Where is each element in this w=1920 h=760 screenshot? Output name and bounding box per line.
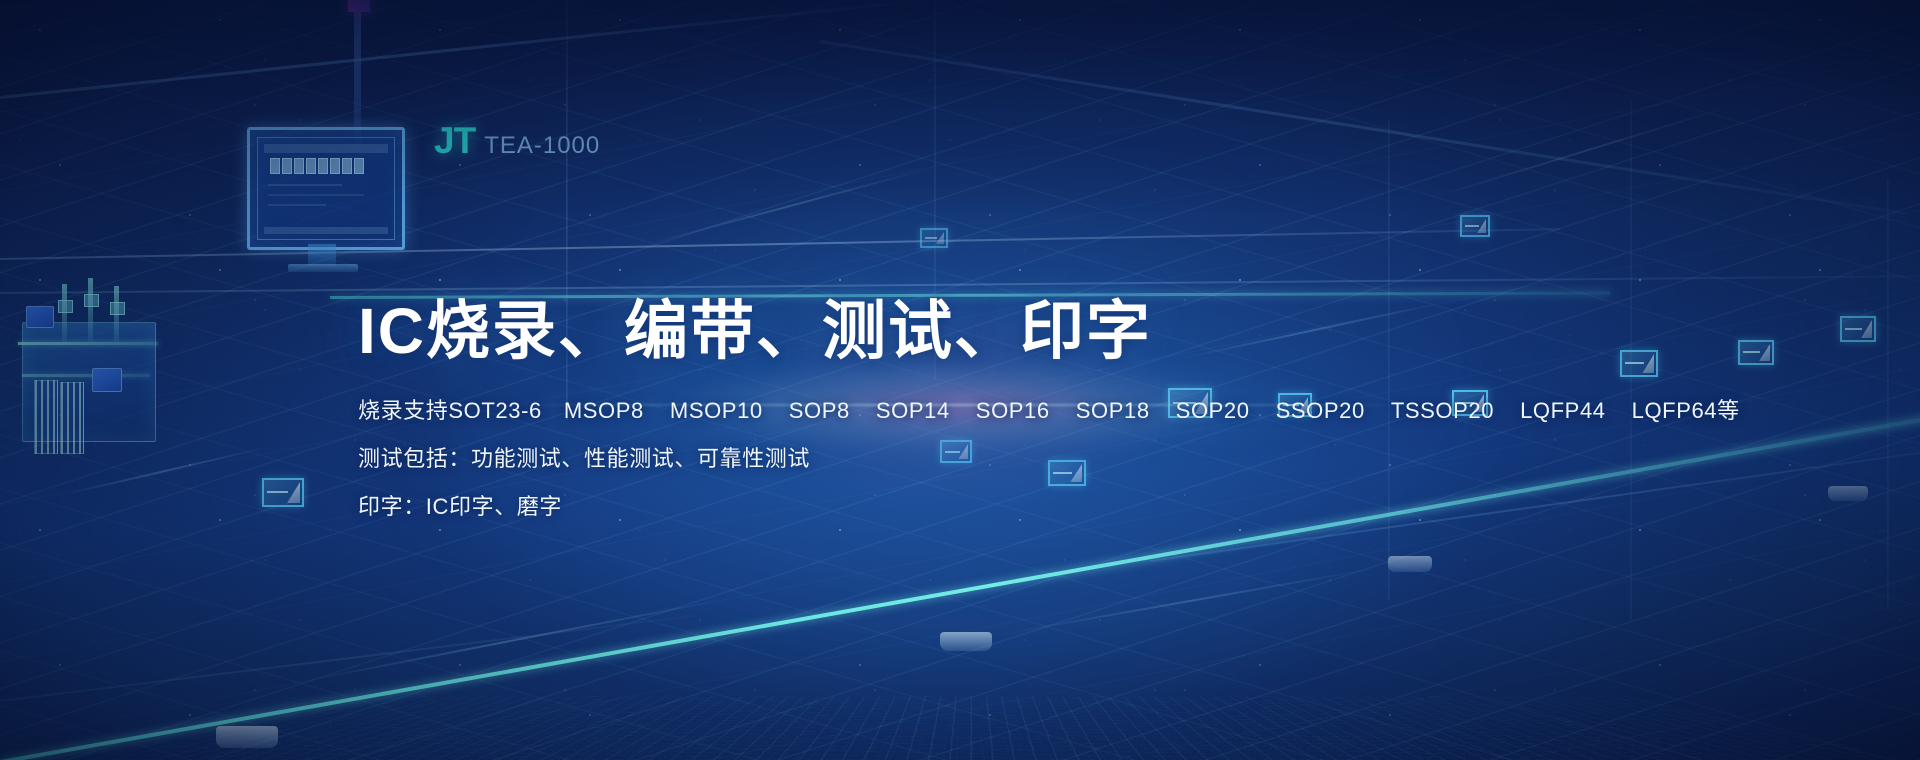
monitor-stand <box>308 244 336 266</box>
burn-support-line: 烧录支持SOT23-6 MSOP8 MSOP10 SOP8 SOP14 SOP1… <box>358 400 1740 422</box>
machine-monitor <box>247 127 405 250</box>
screen-line <box>268 184 342 186</box>
machine-post <box>62 284 67 342</box>
screen-line <box>268 204 326 206</box>
screen-cell <box>282 158 292 174</box>
package-msop8: MSOP8 <box>564 400 644 422</box>
package-tssop20: TSSOP20 <box>1391 400 1494 422</box>
package-lqfp64: LQFP64等 <box>1632 400 1740 422</box>
chip-tray-icon <box>1738 340 1774 365</box>
structure-edge-upper <box>0 228 1560 260</box>
service-detail-list: 烧录支持SOT23-6 MSOP8 MSOP10 SOP8 SOP14 SOP1… <box>358 400 1740 518</box>
conveyor-foot <box>216 726 278 748</box>
vertical-beam <box>1887 180 1889 610</box>
page-title: IC烧录、编带、测试、印字 <box>358 296 1740 366</box>
machine-rail <box>18 342 158 345</box>
chip-tray-icon <box>920 228 948 248</box>
perspective-grid-dots <box>0 736 1920 760</box>
screen-cell <box>294 158 304 174</box>
machine-rail <box>22 374 150 377</box>
screen-cell <box>318 158 328 174</box>
package-list: 烧录支持SOT23-6 MSOP8 MSOP10 SOP8 SOP14 SOP1… <box>358 400 1740 422</box>
package-sop14: SOP14 <box>876 400 950 422</box>
package-lqfp44: LQFP44 <box>1520 400 1606 422</box>
machine-module <box>26 306 54 328</box>
machine-heatsink <box>34 380 58 454</box>
printing-scope-line: 印字：IC印字、磨字 <box>358 496 1740 518</box>
machine-module <box>92 368 122 392</box>
equipment-brand-mark: JT TEA-1000 <box>434 122 600 159</box>
banner-text-block: IC烧录、编带、测试、印字 烧录支持SOT23-6 MSOP8 MSOP10 S… <box>358 296 1740 544</box>
machine-post <box>88 278 93 342</box>
package-msop10: MSOP10 <box>670 400 763 422</box>
ic-service-banner: JT TEA-1000 IC烧录、编带、测试、印字 烧录支持SOT23-6 MS… <box>0 0 1920 760</box>
machine-nozzle <box>110 302 125 315</box>
monitor-base <box>288 264 358 272</box>
monitor-screen <box>257 137 395 240</box>
screen-cell <box>342 158 352 174</box>
structure-edge-diagonal <box>0 2 895 99</box>
test-scope-line: 测试包括：功能测试、性能测试、可靠性测试 <box>358 448 1740 470</box>
streak-segment <box>645 166 935 246</box>
package-sop20: SOP20 <box>1176 400 1250 422</box>
conveyor-foot <box>1828 486 1868 501</box>
machine-nozzle <box>84 294 99 307</box>
equipment-model-text: TEA-1000 <box>484 134 600 158</box>
screen-cell <box>306 158 316 174</box>
chip-tray-icon <box>262 478 304 507</box>
machine-heatsink <box>60 382 84 454</box>
package-ssop20: SSOP20 <box>1276 400 1365 422</box>
screen-titlebar <box>264 144 388 153</box>
structure-edge-diagonal-right <box>820 40 1907 215</box>
package-sop16: SOP16 <box>976 400 1050 422</box>
streak-segment <box>1427 102 1743 200</box>
screen-cell <box>354 158 364 174</box>
chip-tray-icon <box>1460 215 1490 237</box>
conveyor-foot <box>940 632 992 651</box>
ic-handler-machine <box>10 270 160 460</box>
conveyor-foot <box>1388 556 1432 572</box>
package-sop8: SOP8 <box>789 400 850 422</box>
screen-line <box>268 194 364 196</box>
chip-tray-icon <box>1840 316 1876 342</box>
screen-cell <box>270 158 280 174</box>
screen-cell <box>330 158 340 174</box>
brand-logo-text: JT <box>434 122 475 159</box>
streak-segment <box>1003 567 1378 635</box>
magenta-accent-node <box>348 0 370 12</box>
burn-support-label: 烧录支持SOT23-6 <box>358 400 542 422</box>
package-sop18: SOP18 <box>1076 400 1150 422</box>
machine-nozzle <box>58 300 73 313</box>
screen-statusbar <box>264 227 388 234</box>
